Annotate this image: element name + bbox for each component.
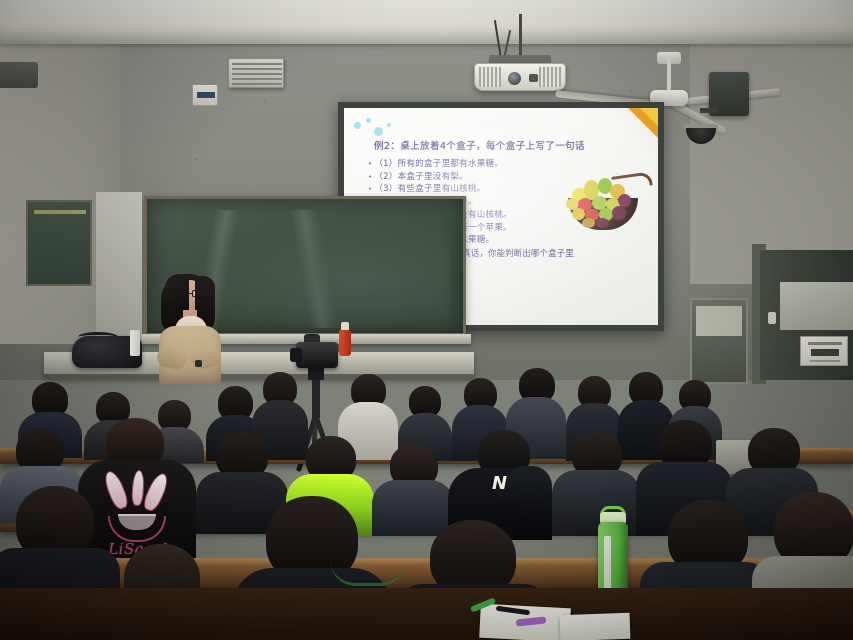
desk-front-panel xyxy=(0,588,853,640)
bullet-icon: • xyxy=(368,158,372,171)
bullet-icon: • xyxy=(368,171,372,184)
video-camera xyxy=(296,342,338,368)
door-window xyxy=(780,282,853,330)
cabinet-panel xyxy=(696,306,742,336)
slide-decoration xyxy=(354,118,400,140)
room-sign xyxy=(800,336,848,366)
classroom-photo: 例2：桌上放着4个盒子，每个盒子上写了一句话 • （1）所有的盒子里都有水果糖。… xyxy=(0,0,853,640)
new-balance-logo: N xyxy=(492,474,510,494)
bag-strap xyxy=(78,332,118,342)
fire-extinguisher xyxy=(339,330,351,356)
speaker-bracket xyxy=(700,108,718,113)
list-item: • （1）所有的盒子里都有水果糖。 xyxy=(368,158,568,171)
fruit-basket-image xyxy=(554,164,650,236)
wall-panel xyxy=(96,192,142,342)
tripod-column xyxy=(312,378,320,418)
ceiling-beam xyxy=(0,30,853,44)
ceiling-air-vent xyxy=(228,58,284,88)
teacher xyxy=(155,268,223,378)
list-item-text: （1）所有的盒子里都有水果糖。 xyxy=(374,158,503,171)
fan-rod xyxy=(667,58,671,92)
projector-rod xyxy=(519,14,522,58)
camera-lens xyxy=(290,348,302,362)
student xyxy=(552,432,640,532)
tripod-head xyxy=(308,366,324,380)
door-handle[interactable] xyxy=(768,312,776,324)
paper-sheet xyxy=(560,613,631,640)
light-switch[interactable] xyxy=(192,84,218,106)
ceiling-projector xyxy=(474,63,566,91)
white-cup xyxy=(130,330,140,356)
notice-board xyxy=(26,200,92,286)
slide-title: 例2：桌上放着4个盒子，每个盒子上写了一句话 xyxy=(374,138,644,152)
list-item-text: （3）有些盒子里有山核桃。 xyxy=(374,183,485,196)
list-item-text: （2）本盒子里没有梨。 xyxy=(374,171,468,184)
list-item: • （2）本盒子里没有梨。 xyxy=(368,171,568,184)
wristwatch xyxy=(195,360,202,367)
air-conditioner-unit xyxy=(0,62,38,88)
slide-corner-accent-inner xyxy=(640,108,658,126)
projector-lens xyxy=(508,72,521,85)
list-item: • （3）有些盒子里有山核桃。 xyxy=(368,183,568,196)
bullet-icon: • xyxy=(368,183,372,196)
